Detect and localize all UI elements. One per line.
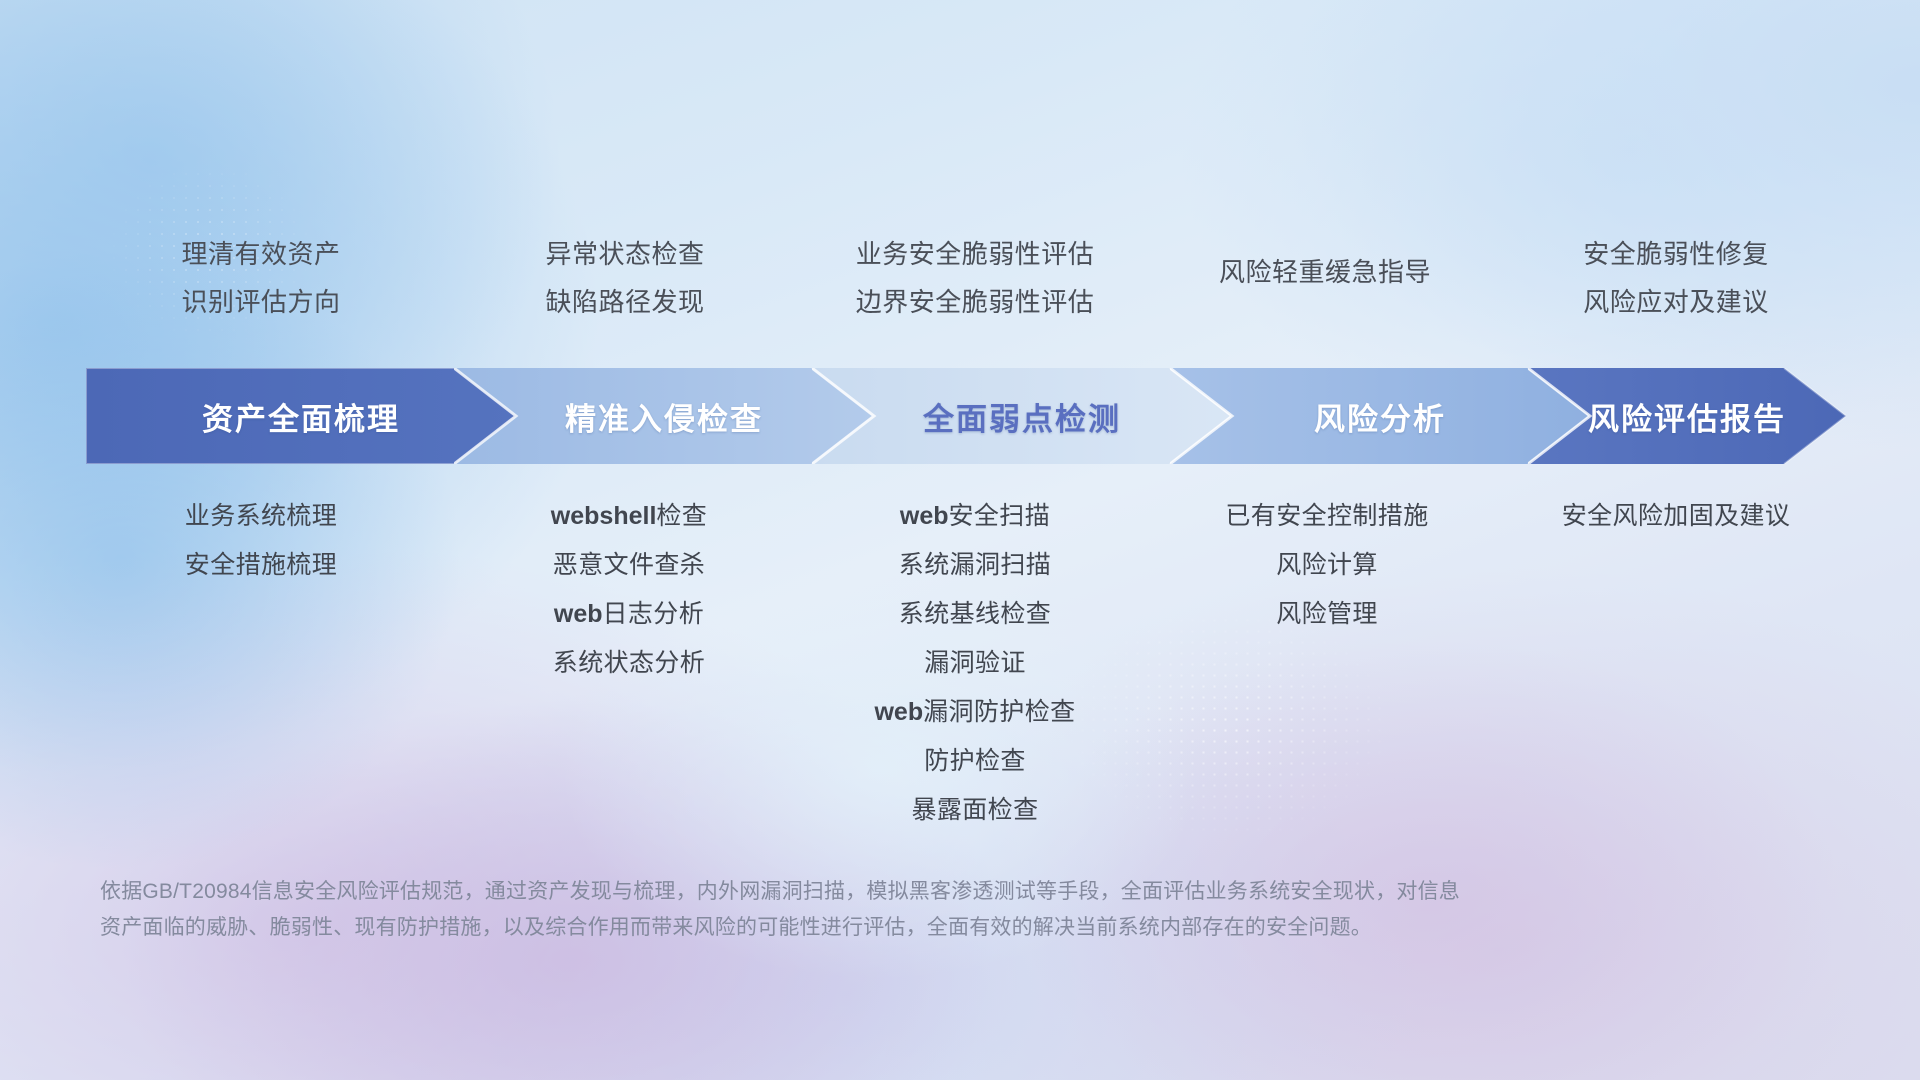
activity-text: 系统基线检查 — [899, 600, 1051, 628]
activity-item: 安全风险加固及建议 — [1500, 492, 1852, 541]
stage-arrow-label: 风险分析 — [1314, 394, 1446, 439]
process-arrow-band: 资产全面梳理 精准入侵检查 — [86, 368, 1846, 464]
activity-text: 日志分析 — [603, 600, 705, 628]
stage-outputs-row: 理清有效资产 识别评估方向 异常状态检查 缺陷路径发现 业务安全脆弱性评估 边界… — [86, 230, 1846, 326]
activity-text: 系统状态分析 — [553, 649, 705, 677]
activity-item: 业务系统梳理 — [76, 492, 446, 541]
activity-item: 安全措施梳理 — [76, 541, 446, 590]
stage-output-line: 风险应对及建议 — [1500, 278, 1852, 326]
stage-arrow-weakness-detection[interactable]: 全面弱点检测 — [812, 368, 1232, 464]
activity-text: 漏洞防护检查 — [923, 698, 1075, 726]
stage-output-line: 识别评估方向 — [76, 278, 446, 326]
activity-text: 风险计算 — [1276, 551, 1378, 579]
stage-activities-asset-inventory: 业务系统梳理 安全措施梳理 — [76, 492, 446, 835]
stage-arrow-label: 精准入侵检查 — [565, 394, 763, 439]
stage-arrow-risk-analysis[interactable]: 风险分析 — [1170, 368, 1590, 464]
activity-prefix: web — [874, 698, 923, 726]
activity-text: 安全风险加固及建议 — [1562, 502, 1791, 530]
stage-arrow-assessment-report[interactable]: 风险评估报告 — [1528, 368, 1846, 464]
activity-item: 系统基线检查 — [802, 590, 1148, 639]
slide-canvas: 理清有效资产 识别评估方向 异常状态检查 缺陷路径发现 业务安全脆弱性评估 边界… — [0, 0, 1920, 1080]
stage-outputs-intrusion-check: 异常状态检查 缺陷路径发现 — [452, 230, 798, 326]
activity-text: 漏洞验证 — [924, 649, 1026, 677]
activity-item: 暴露面检查 — [802, 786, 1148, 835]
stage-arrow-label: 资产全面梳理 — [202, 394, 400, 439]
activity-item: 漏洞验证 — [802, 639, 1148, 688]
stage-arrow-label: 全面弱点检测 — [923, 394, 1121, 439]
activity-text: 业务系统梳理 — [185, 502, 337, 530]
activity-item: 恶意文件查杀 — [456, 541, 802, 590]
stage-output-line: 安全脆弱性修复 — [1500, 230, 1852, 278]
activity-prefix: web — [900, 502, 949, 530]
activity-text: 已有安全控制措施 — [1225, 502, 1428, 530]
activity-text: 检查 — [656, 502, 707, 530]
stage-output-line: 缺陷路径发现 — [452, 278, 798, 326]
stage-arrow-asset-inventory[interactable]: 资产全面梳理 — [86, 368, 516, 464]
activity-text: 系统漏洞扫描 — [899, 551, 1051, 579]
stage-activities-weakness-detection: web安全扫描 系统漏洞扫描 系统基线检查 漏洞验证 web漏洞防护检查 防护检… — [802, 492, 1148, 835]
stage-activities-risk-analysis: 已有安全控制措施 风险计算 风险管理 — [1154, 492, 1500, 835]
stage-output-line: 异常状态检查 — [452, 230, 798, 278]
stage-outputs-weakness-detection: 业务安全脆弱性评估 边界安全脆弱性评估 — [802, 230, 1148, 326]
activity-text: 防护检查 — [924, 747, 1026, 775]
stage-output-line: 边界安全脆弱性评估 — [802, 278, 1148, 326]
activity-item: 系统状态分析 — [456, 639, 802, 688]
activity-item: 防护检查 — [802, 737, 1148, 786]
activity-text: 恶意文件查杀 — [553, 551, 705, 579]
stage-output-line: 业务安全脆弱性评估 — [802, 230, 1148, 278]
stage-outputs-assessment-report: 安全脆弱性修复 风险应对及建议 — [1500, 230, 1852, 326]
stage-activities-intrusion-check: webshell检查 恶意文件查杀 web日志分析 系统状态分析 — [456, 492, 802, 835]
stage-output-line: 风险轻重缓急指导 — [1152, 248, 1498, 296]
stage-arrow-intrusion-check[interactable]: 精准入侵检查 — [454, 368, 874, 464]
activity-item: web漏洞防护检查 — [802, 688, 1148, 737]
activity-item: 已有安全控制措施 — [1154, 492, 1500, 541]
stage-arrow-label: 风险评估报告 — [1588, 394, 1786, 439]
activity-item: web日志分析 — [456, 590, 802, 639]
activity-prefix: web — [554, 600, 603, 628]
activity-item: 系统漏洞扫描 — [802, 541, 1148, 590]
activity-prefix: webshell — [551, 502, 657, 530]
footer-description: 依据GB/T20984信息安全风险评估规范，通过资产发现与梳理，内外网漏洞扫描，… — [100, 874, 1660, 946]
activity-text: 安全措施梳理 — [185, 551, 337, 579]
footer-line-2: 资产面临的威胁、脆弱性、现有防护措施，以及综合作用而带来风险的可能性进行评估，全… — [100, 910, 1660, 946]
activity-item: 风险计算 — [1154, 541, 1500, 590]
stage-activities-row: 业务系统梳理 安全措施梳理 webshell检查 恶意文件查杀 web日志分析 … — [86, 492, 1846, 835]
stage-outputs-asset-inventory: 理清有效资产 识别评估方向 — [76, 230, 446, 326]
activity-text: 风险管理 — [1276, 600, 1378, 628]
activity-item: 风险管理 — [1154, 590, 1500, 639]
stage-activities-assessment-report: 安全风险加固及建议 — [1500, 492, 1852, 835]
activity-text: 安全扫描 — [949, 502, 1051, 530]
activity-item: webshell检查 — [456, 492, 802, 541]
stage-outputs-risk-analysis: 风险轻重缓急指导 — [1152, 248, 1498, 344]
activity-item: web安全扫描 — [802, 492, 1148, 541]
stage-output-line: 理清有效资产 — [76, 230, 446, 278]
activity-text: 暴露面检查 — [911, 796, 1038, 824]
footer-line-1: 依据GB/T20984信息安全风险评估规范，通过资产发现与梳理，内外网漏洞扫描，… — [100, 874, 1660, 910]
